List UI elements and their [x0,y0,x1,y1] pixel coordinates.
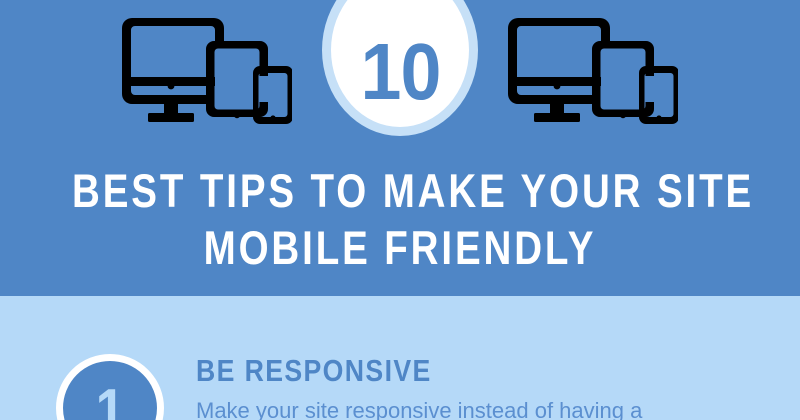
page-title-line-1: BEST TIPS TO MAKE YOUR SITE [72,162,728,219]
infographic-page: 10 BEST TIPS TO MAKE YOUR SITE MOBILE FR… [0,0,800,420]
tip-item-1: 1 BE RESPONSIVE Make your site responsiv… [0,354,800,420]
responsive-devices-icon-right [508,14,678,124]
tip-number: 1 [95,381,124,420]
tip-body-text: Make your site responsive instead of hav… [196,396,756,420]
responsive-devices-icon-left [122,14,292,124]
page-title-line-2: MOBILE FRIENDLY [72,219,728,276]
count-badge-10: 10 [322,0,478,136]
header-band: 10 BEST TIPS TO MAKE YOUR SITE MOBILE FR… [0,0,800,296]
tip-number-badge: 1 [56,354,164,420]
page-title: BEST TIPS TO MAKE YOUR SITE MOBILE FRIEN… [0,162,800,276]
count-badge-number: 10 [360,39,440,105]
tip-heading: BE RESPONSIVE [196,354,678,388]
tips-section: 1 BE RESPONSIVE Make your site responsiv… [0,296,800,420]
tip-text-block: BE RESPONSIVE Make your site responsive … [196,354,756,420]
